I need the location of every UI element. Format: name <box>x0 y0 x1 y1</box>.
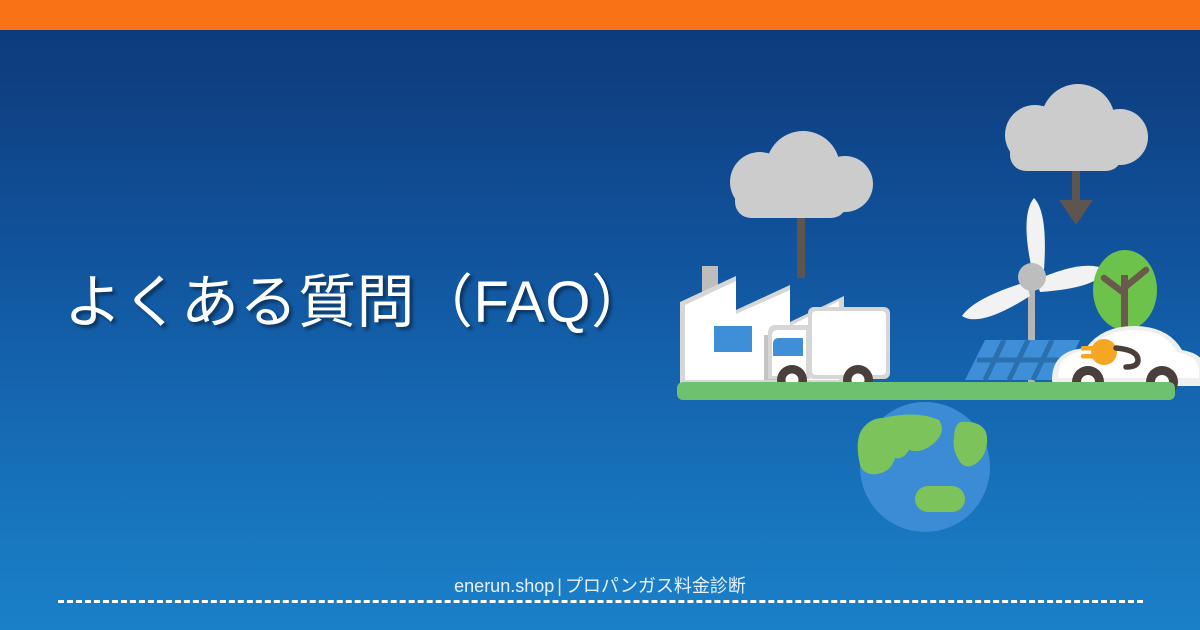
cloud-up-arrow-icon <box>730 131 873 278</box>
cloud-down-arrow-icon <box>1005 84 1148 225</box>
footer-divider <box>58 600 1143 603</box>
globe-icon <box>858 402 990 532</box>
slide-root: よくある質問（FAQ） <box>0 0 1200 630</box>
page-title: よくある質問（FAQ） <box>64 264 650 342</box>
eco-energy-illustration <box>640 80 1200 550</box>
footer-tagline: プロパンガス料金診断 <box>565 576 746 596</box>
top-accent-bar <box>0 0 1200 30</box>
footer: enerun.shop|プロパンガス料金診断 <box>0 575 1200 597</box>
footer-site: enerun.shop <box>454 576 554 596</box>
tree-icon <box>1093 250 1157 335</box>
footer-separator: | <box>554 576 565 596</box>
ground-bar <box>677 382 1175 400</box>
